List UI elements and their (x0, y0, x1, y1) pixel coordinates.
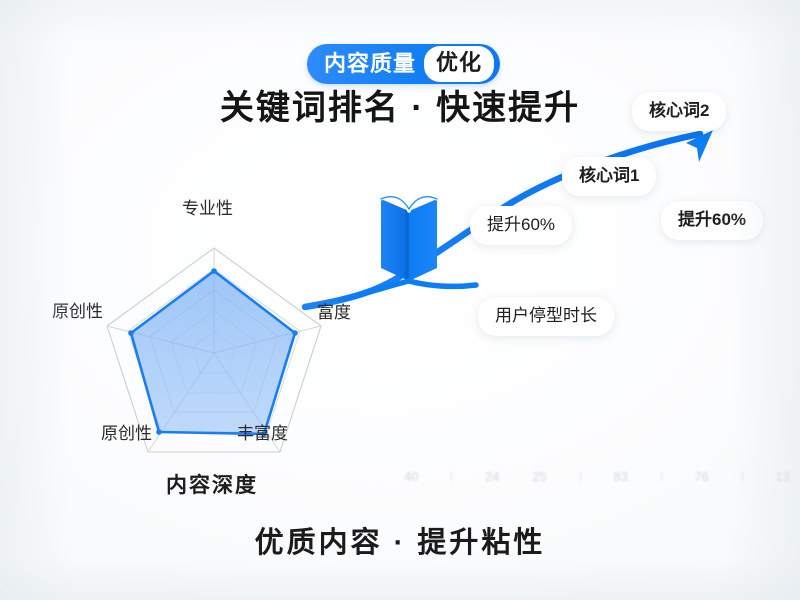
radar-grid-ring-4 (128, 269, 300, 432)
radar-label-left: 原创性 (52, 303, 103, 320)
ghost-axis-tick (451, 472, 452, 481)
footer-tagline: 优质内容 · 提升粘性 (0, 519, 800, 561)
ghost-axis-value: 83 (613, 470, 627, 483)
callout-dwell-time[interactable]: 用户停型时长 (478, 297, 614, 336)
radar-chart (107, 248, 321, 452)
callout-keyword-2[interactable]: 核心词2 (632, 92, 726, 131)
callout-uplift-right[interactable]: 提升60% (661, 201, 763, 240)
radar-label-top: 专业性 (182, 200, 233, 217)
ghost-axis-value: 24 (485, 470, 499, 483)
radar-grid-ring-1 (193, 332, 235, 373)
radar-label-bottom-right: 丰富度 (237, 425, 288, 442)
ghost-axis-value: 76 (694, 470, 708, 483)
callout-uplift-left[interactable]: 提升60% (470, 206, 572, 245)
ghost-axis-strip: 40 24 25 83 76 13 (404, 463, 790, 489)
quality-badge-label: 内容质量 (324, 53, 424, 75)
ghost-axis-value: 13 (776, 470, 790, 483)
content-depth-label: 内容深度 (166, 469, 258, 499)
radar-series-polygon (131, 271, 295, 434)
radar-axes (107, 248, 321, 452)
ghost-axis-tick (661, 472, 662, 481)
ghost-axis-value: 25 (532, 470, 546, 483)
ghost-axis-value: 40 (404, 470, 418, 483)
quality-badge[interactable]: 内容质量 优化 (307, 44, 500, 84)
radar-data-points (128, 268, 298, 437)
radar-label-bottom-left: 原创性 (101, 425, 152, 442)
ghost-axis-tick (742, 472, 743, 481)
callout-keyword-1[interactable]: 核心词1 (562, 157, 656, 196)
radar-label-right: 富度 (317, 304, 351, 321)
quality-badge-chip: 优化 (424, 46, 494, 82)
ghost-axis-tick (580, 472, 581, 481)
poster-canvas: 内容质量 优化 关键词排名 · 快速提升 (0, 0, 800, 600)
radar-grid-ring-2 (171, 311, 257, 393)
radar-grid-ring-outer (107, 248, 321, 452)
radar-grid-ring-3 (150, 290, 278, 412)
open-book-icon (341, 195, 476, 300)
curve-arrow-head (686, 130, 713, 162)
